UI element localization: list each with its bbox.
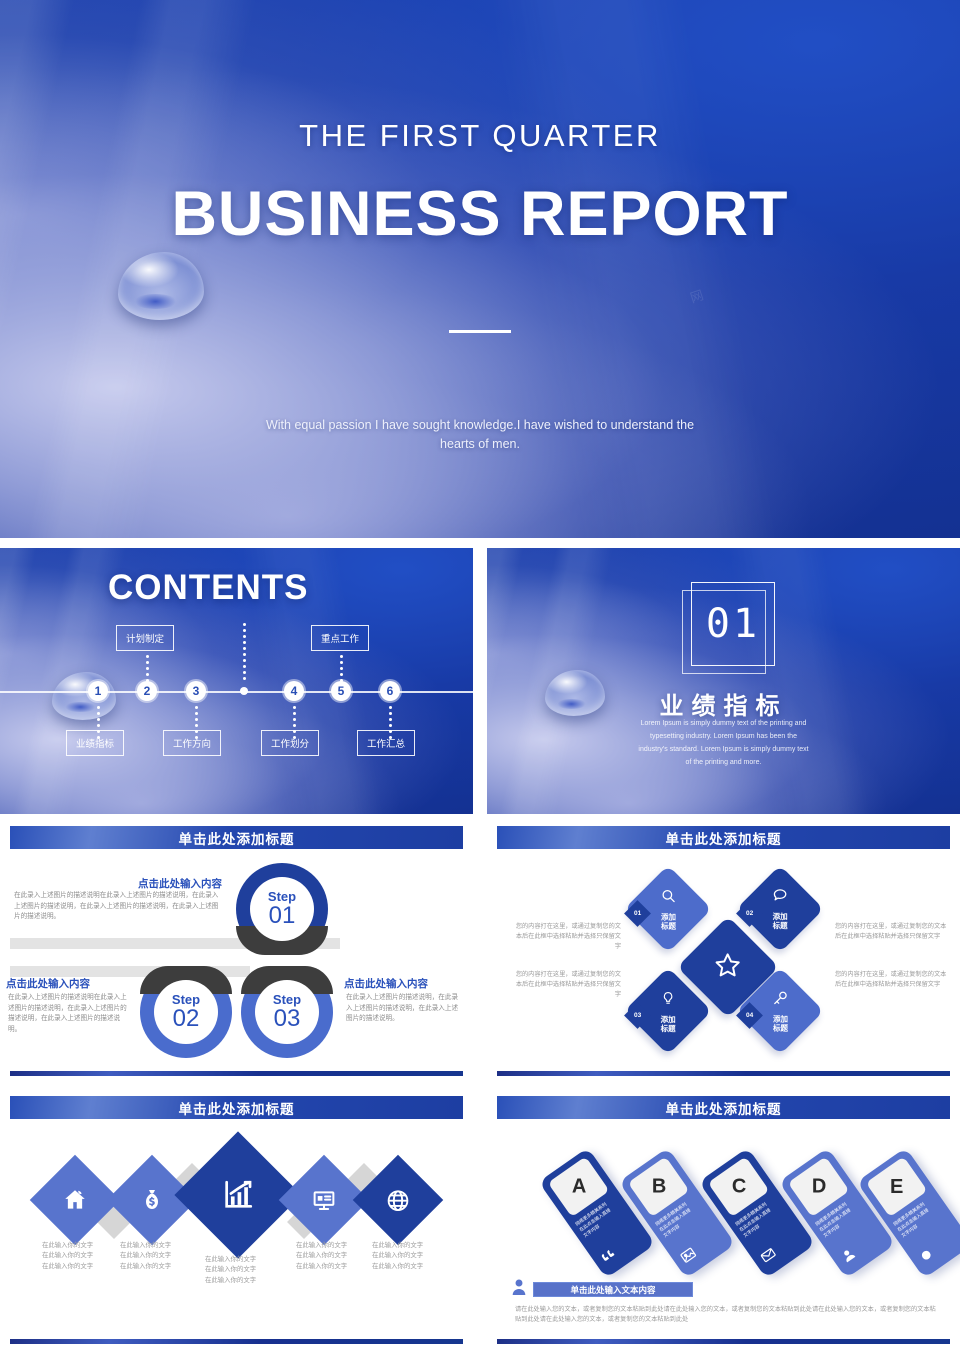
contents-title: CONTENTS: [108, 568, 309, 608]
slide-footer-bar: [497, 1339, 950, 1344]
presentation-icon: [312, 1188, 337, 1213]
circle-icon: [915, 1245, 934, 1264]
timeline-node-5[interactable]: 5: [331, 681, 351, 701]
dotted-connector: [340, 655, 343, 682]
timeline-axis: [0, 691, 473, 693]
person-icon: [511, 1278, 527, 1296]
section-paragraph: Lorem Ipsum is simply dummy text of the …: [637, 718, 810, 770]
globe-icon: [386, 1188, 411, 1213]
section-number: 01: [691, 582, 775, 666]
timeline-node-6[interactable]: 6: [380, 681, 400, 701]
money-bag-icon: [140, 1187, 164, 1213]
slide-abc-cards[interactable]: 单击此处添加标题 A 网络更多精美系列 在此点击输入直接 文字内容 B 网络更多…: [487, 1088, 960, 1352]
slide-deck-preview: 网 THE FIRST QUARTER BUSINESS REPORT With…: [0, 0, 960, 1352]
icon-caption-3: 在此输入你的文字在此输入你的文字在此输入你的文字: [205, 1254, 271, 1285]
slide-header-title: 单击此处添加标题: [666, 1098, 782, 1118]
home-icon: [62, 1187, 88, 1213]
slide-header-title: 单击此处添加标题: [666, 828, 782, 848]
bar-chart-icon: [221, 1178, 255, 1212]
timeline-node-1[interactable]: 1: [88, 681, 108, 701]
step-ring-2[interactable]: Step 02: [140, 966, 232, 1058]
key-icon: [772, 993, 789, 1010]
cover-kicker: THE FIRST QUARTER: [0, 118, 960, 154]
cover-divider: [449, 330, 511, 333]
step-ring-1[interactable]: Step 01: [236, 863, 328, 955]
rhombus-title-4: 添加标题: [772, 1014, 789, 1033]
cards-body-text: 请在此处输入您的文本，或者复制您的文本粘贴到此处请在此处输入您的文本，或者复制您…: [515, 1305, 938, 1326]
contents-label-above-2[interactable]: 重点工作: [311, 625, 369, 651]
rhombus-note-1: 您的内容打在这里，或通过复制您的文本后在此框中选择粘贴并选择只保留文字: [511, 922, 621, 952]
slide-header-title: 单击此处添加标题: [179, 828, 295, 848]
slide-cover[interactable]: 网 THE FIRST QUARTER BUSINESS REPORT With…: [0, 0, 960, 538]
rhombus-title-3: 添加标题: [661, 1015, 676, 1034]
step-body-3: 在此录入上述图片的描述说明，在此录入上述图片的描述说明，在此录入上述图片的描述说…: [346, 992, 464, 1024]
icon-caption-5: 在此输入你的文字在此输入你的文字在此输入你的文字: [372, 1240, 438, 1271]
pill-label: 单击此处输入文本内容: [570, 1284, 655, 1296]
search-icon: [660, 891, 677, 908]
slide-header-bar: 单击此处添加标题: [10, 826, 463, 849]
step-heading-2: 点击此处输入内容: [6, 976, 134, 991]
step-label-2: Step: [172, 993, 200, 1006]
user-icon: [837, 1245, 856, 1264]
step-body-2: 在此录入上述图片的描述说明在此录入上述图片的描述说明，在此录入上述图片的描述说明…: [8, 992, 132, 1035]
contents-label-below-2[interactable]: 工作方向: [163, 730, 221, 756]
slide-header-bar: 单击此处添加标题: [497, 826, 950, 849]
slide-icon-diamonds[interactable]: 单击此处添加标题 在此输入你的文字在此输入你的文字在此输入你的文字 在此输入你的…: [0, 1088, 473, 1352]
contents-label-below-1[interactable]: 业绩指标: [66, 730, 124, 756]
quote-icon: [597, 1245, 616, 1264]
cover-title: BUSINESS REPORT: [0, 178, 960, 250]
icon-caption-4: 在此输入你的文字在此输入你的文字在此输入你的文字: [296, 1240, 362, 1271]
dotted-connector: [146, 655, 149, 682]
rhombus-note-4: 您的内容打在这里，或通过复制您的文本后在此框中选择粘贴并选择只保留文字: [835, 970, 947, 990]
contents-label-above-1[interactable]: 计划制定: [116, 625, 174, 651]
timeline-node-4[interactable]: 4: [284, 681, 304, 701]
slide-footer-bar: [10, 1339, 463, 1344]
slide-section-01[interactable]: 01 业绩指标 Lorem Ipsum is simply dummy text…: [487, 548, 960, 814]
step-heading-1: 点击此处输入内容: [42, 876, 222, 891]
step-number-3: 03: [274, 1006, 301, 1031]
text-content-pill[interactable]: 单击此处输入文本内容: [533, 1282, 693, 1297]
slide-steps[interactable]: 单击此处添加标题 点击此处输入内容 在此录入上述图片的描述说明在此录入上述图片的…: [0, 818, 473, 1084]
slide-contents[interactable]: CONTENTS 1 业绩指标 2 计划制定 3 工作方向 4 工作划分 5 重…: [0, 548, 473, 814]
section-heading: 业绩指标: [487, 686, 960, 721]
contents-label-below-4[interactable]: 工作汇总: [357, 730, 415, 756]
step-number-1: 01: [269, 903, 296, 928]
slide-footer-bar: [10, 1071, 463, 1076]
slide-footer-bar: [497, 1071, 950, 1076]
rhombus-note-3: 您的内容打在这里，或通过复制您的文本后在此框中选择粘贴并选择只保留文字: [511, 970, 621, 1000]
slide-header-title: 单击此处添加标题: [179, 1098, 295, 1118]
contents-label-below-3[interactable]: 工作划分: [261, 730, 319, 756]
timeline-node-3[interactable]: 3: [186, 681, 206, 701]
speech-bubble-icon: [771, 891, 789, 908]
step-label-1: Step: [268, 890, 296, 903]
timeline-center-dot: [240, 687, 248, 695]
slide-rhombus[interactable]: 单击此处添加标题 添加标题 01 您的内容打在这里，或通过复制您的文本后在此框中…: [487, 818, 960, 1084]
rhombus-title-2: 添加标题: [771, 912, 789, 931]
lightbulb-icon: [661, 994, 676, 1011]
slide-header-bar: 单击此处添加标题: [497, 1096, 950, 1119]
step-body-1: 在此录入上述图片的描述说明在此录入上述图片的描述说明，在此录入上述图片的描述说明…: [14, 890, 222, 922]
slide-header-bar: 单击此处添加标题: [10, 1096, 463, 1119]
rhombus-note-2: 您的内容打在这里，或通过复制您的文本后在此框中选择粘贴并选择只保留文字: [835, 922, 947, 942]
step-number-2: 02: [173, 1006, 200, 1031]
icon-caption-2: 在此输入你的文字在此输入你的文字在此输入你的文字: [120, 1240, 186, 1271]
dotted-connector: [243, 623, 246, 680]
image-icon: [677, 1245, 696, 1264]
rhombus-title-1: 添加标题: [660, 912, 677, 931]
step-label-3: Step: [273, 993, 301, 1006]
mail-icon: [757, 1245, 776, 1264]
step-ring-3[interactable]: Step 03: [241, 966, 333, 1058]
timeline-node-2[interactable]: 2: [137, 681, 157, 701]
cover-subtitle: With equal passion I have sought knowled…: [250, 416, 710, 455]
step-heading-3: 点击此处输入内容: [344, 976, 468, 991]
icon-caption-1: 在此输入你的文字在此输入你的文字在此输入你的文字: [42, 1240, 108, 1271]
star-icon: [714, 951, 742, 984]
